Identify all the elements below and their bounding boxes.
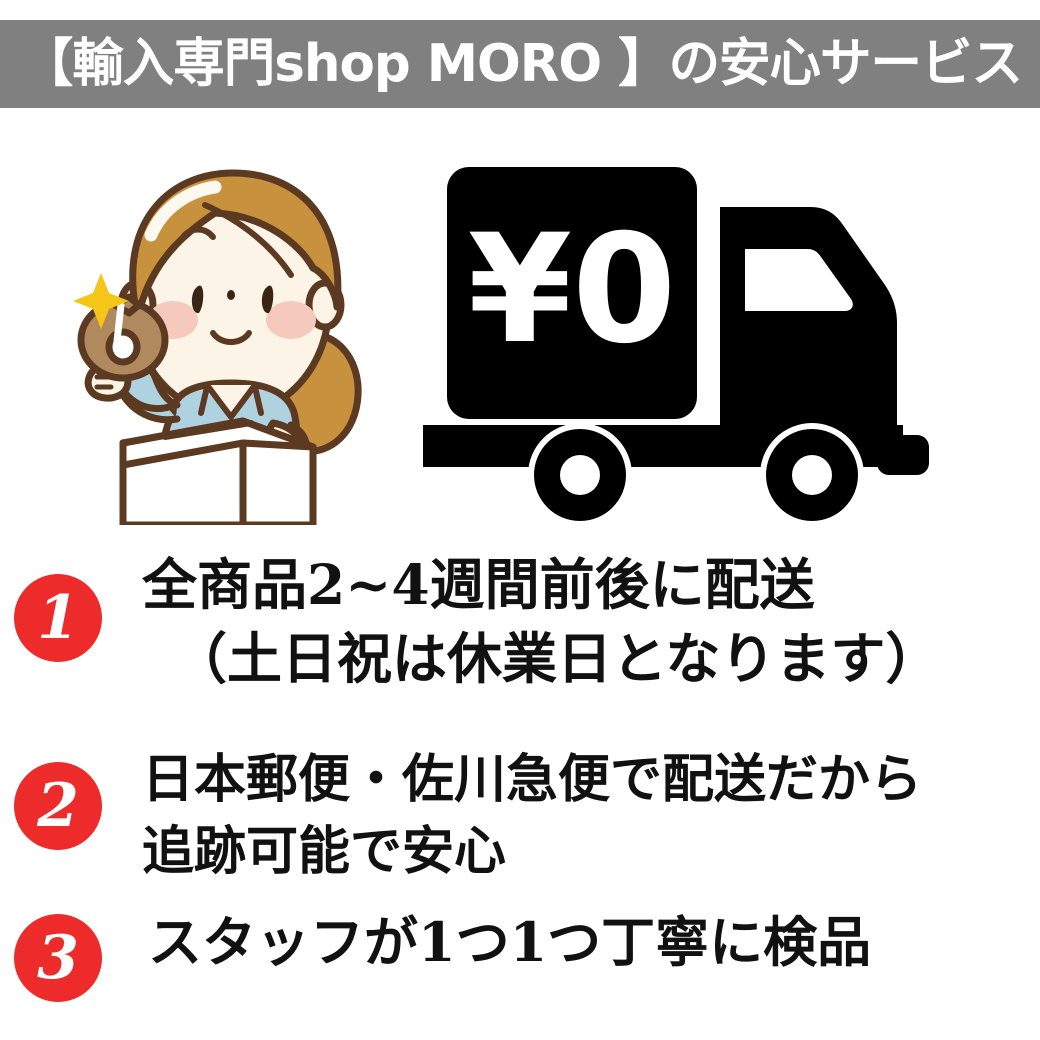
- list-item: 2 日本郵便・佐川急便で配送だから 追跡可能で安心: [0, 744, 1040, 904]
- woman-packing-box-illustration: [55, 155, 405, 525]
- list-item-text-3: スタッフが1つ1つ丁寧に検品: [148, 906, 871, 978]
- list-item-text-2: 日本郵便・佐川急便で配送だから 追跡可能で安心: [142, 744, 922, 888]
- header-band: 【輸入専門shop MORO 】の安心サービス: [0, 20, 1040, 108]
- tape-edge: [117, 305, 121, 341]
- delivery-truck-icon: ¥0: [415, 145, 975, 525]
- list-item: 1 全商品2~4週間前後に配送 （土日祝は休業日となります）: [0, 548, 1040, 730]
- cheek-right: [266, 301, 316, 339]
- list-item-badge-3: 3: [14, 914, 102, 1002]
- list-item-badge-1: 1: [14, 574, 102, 662]
- list-item-line: スタッフが1つ1つ丁寧に検品: [148, 906, 871, 978]
- nose: [227, 290, 235, 300]
- list-item-line: 全商品2~4週間前後に配送: [142, 548, 940, 622]
- list-item-line: 日本郵便・佐川急便で配送だから: [142, 744, 922, 816]
- truck-cargo-label: ¥0: [468, 203, 677, 377]
- service-banner: 【輸入専門shop MORO 】の安心サービス: [0, 0, 1040, 1040]
- list-item-line: （土日祝は休業日となります）: [142, 622, 940, 696]
- rear-wheel-hub: [560, 455, 600, 495]
- list-item: 3 スタッフが1つ1つ丁寧に検品: [0, 906, 1040, 1016]
- truck-bumper: [877, 435, 929, 475]
- list-item-badge-2: 2: [14, 762, 102, 850]
- service-points-list: 1 全商品2~4週間前後に配送 （土日祝は休業日となります） 2 日本郵便・佐川…: [0, 548, 1040, 1040]
- tape-roll-hole: [109, 332, 137, 362]
- page-title: 【輸入専門shop MORO 】の安心サービス: [0, 20, 1022, 108]
- list-item-text-1: 全商品2~4週間前後に配送 （土日祝は休業日となります）: [142, 548, 940, 696]
- list-item-line: 追跡可能で安心: [142, 816, 922, 888]
- front-wheel-hub: [792, 455, 832, 495]
